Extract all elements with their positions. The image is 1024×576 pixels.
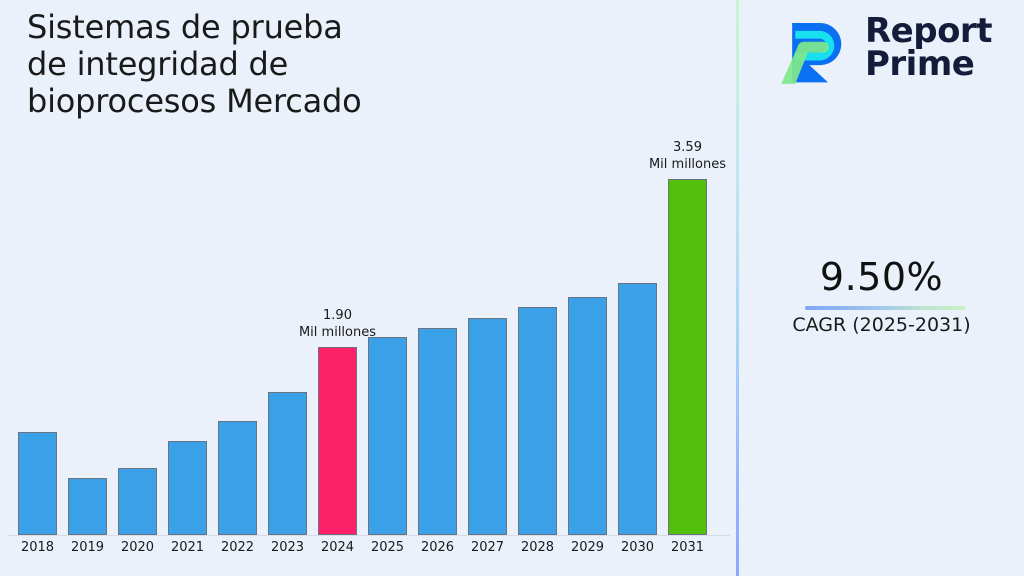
bar-2021 (168, 441, 207, 535)
bar-2020 (118, 468, 157, 535)
bar-2025 (368, 337, 407, 535)
infographic-root: Sistemas de prueba de integridad de biop… (0, 0, 1024, 576)
bar-2027 (468, 318, 507, 535)
bar-2026 (418, 328, 457, 535)
cagr-divider-rule (805, 306, 965, 310)
bar-2019 (68, 478, 107, 535)
side-panel: Report Prime 9.50% CAGR (2025-2031) (739, 0, 1024, 576)
bar-2024 (318, 347, 357, 535)
bar-2030 (618, 283, 657, 535)
bar-2018 (18, 432, 57, 535)
brand-logo: Report Prime (775, 8, 992, 88)
x-tick-2031: 2031 (658, 540, 718, 555)
bar-2022 (218, 421, 257, 535)
x-axis-line (8, 535, 730, 536)
cagr-caption: CAGR (2025-2031) (739, 314, 1024, 336)
bar-2031 (668, 179, 707, 535)
bar-2028 (518, 307, 557, 535)
report-prime-logo-icon (775, 8, 853, 88)
bar-label-2024: 1.90 Mil millones (258, 307, 418, 341)
cagr-value: 9.50% (739, 255, 1024, 299)
bar-2023 (268, 392, 307, 535)
bar-2029 (568, 297, 607, 535)
bar-chart: 2018201920202021202220232024202520262027… (0, 0, 736, 576)
brand-name: Report Prime (865, 15, 992, 81)
